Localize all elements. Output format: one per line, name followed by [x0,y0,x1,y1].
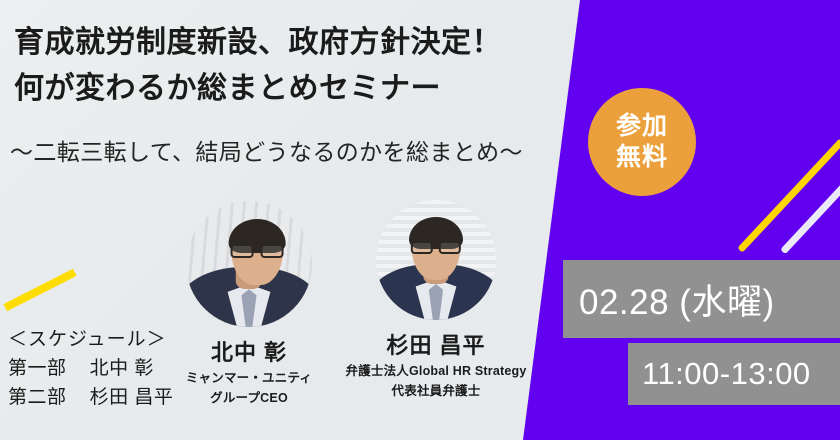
schedule-row: 第二部 杉田 昌平 [8,383,173,412]
glasses-lens-left [231,244,254,258]
free-participation-badge: 参加 無料 [588,88,696,196]
speaker-name: 北中 彰 [168,335,330,367]
glasses-lens-left [411,241,433,254]
headline: 育成就労制度新設、政府方針決定！ 何が変わるか総まとめセミナー [14,20,559,112]
yellow-diagonal-stroke-left-icon [3,269,76,312]
seminar-banner: 育成就労制度新設、政府方針決定！ 何が変わるか総まとめセミナー 〜二転三転して、… [0,0,840,440]
schedule-row-speaker: 杉田 昌平 [90,387,174,408]
glasses-lens-right [439,241,461,254]
date-box: 02.28 (水曜) [563,260,840,338]
speaker-card: portrait-sugita-shohei 杉田 昌平 弁護士法人Global… [338,200,534,400]
speaker-org-line-2: グループCEO [168,390,330,407]
headline-subtitle: 〜二転三転して、結局どうなるのかを総まとめ〜 [10,133,523,167]
schedule-row-spacer [72,358,84,379]
speaker-org-line-1: ミャンマー・ユニティ [168,370,330,387]
speaker-name: 杉田 昌平 [338,328,534,360]
schedule-title: ＜スケジュール＞ [8,326,173,354]
time-box: 11:00-13:00 [628,343,840,405]
photo-glasses-icon [411,241,461,254]
free-badge-line-1: 参加 [616,111,668,142]
schedule-row-speaker: 北中 彰 [90,358,154,379]
speaker-photo: portrait-kitanaka-akira [186,201,312,327]
glasses-lens-right [260,244,283,258]
headline-line-1: 育成就労制度新設、政府方針決定！ [14,20,559,66]
time-text: 11:00-13:00 [642,356,811,392]
date-text: 02.28 (水曜) [579,274,775,325]
speaker-org-line-2: 代表社員弁護士 [338,383,534,400]
schedule-row: 第一部 北中 彰 [8,354,173,383]
speaker-photo: portrait-sugita-shohei [376,200,496,320]
glasses-bridge [254,250,260,252]
speaker-card: portrait-kitanaka-akira 北中 彰 ミャンマー・ユニティ … [168,201,330,407]
schedule-row-part: 第二部 [8,387,67,408]
schedule-block: ＜スケジュール＞ 第一部 北中 彰 第二部 杉田 昌平 [8,326,173,412]
schedule-row-spacer [72,387,84,408]
speaker-org-line-1: 弁護士法人Global HR Strategy [338,363,534,380]
free-badge-line-2: 無料 [616,142,668,173]
schedule-row-part: 第一部 [8,358,67,379]
headline-line-2: 何が変わるか総まとめセミナー [14,66,559,112]
photo-glasses-icon [231,244,284,258]
